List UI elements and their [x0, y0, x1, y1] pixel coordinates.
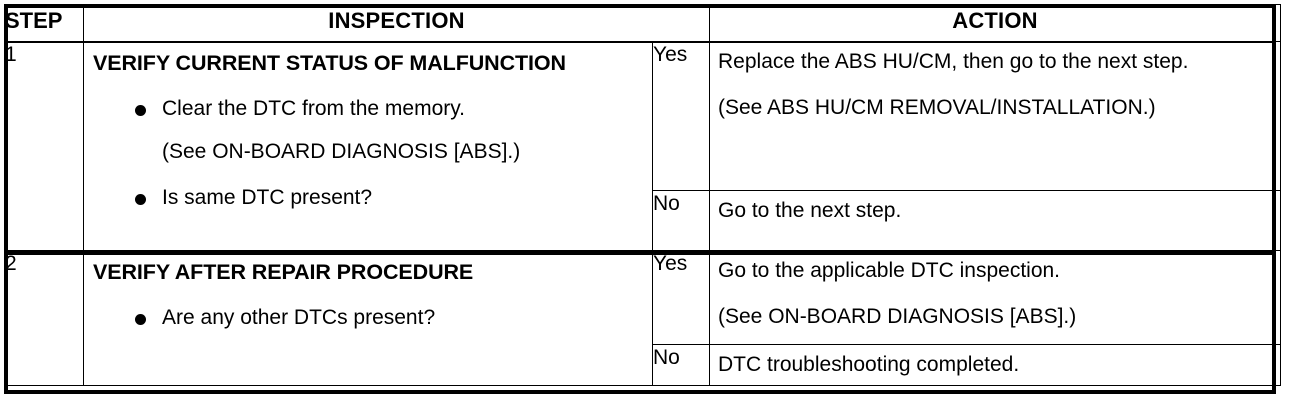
answer-cell-no-1: No — [653, 191, 710, 251]
table-row: 2 VERIFY AFTER REPAIR PROCEDURE Are any … — [5, 251, 1281, 345]
header-cell-inspection: INSPECTION — [84, 5, 710, 42]
action-line: Replace the ABS HU/CM, then go to the ne… — [710, 42, 1280, 75]
step-number-1: 1 — [5, 42, 84, 251]
list-item: Clear the DTC from the memory. — [84, 96, 652, 122]
answer-cell-yes-1: Yes — [653, 42, 710, 191]
diagnostic-table: STEP INSPECTION ACTION 1 VERIFY CURRENT … — [4, 4, 1281, 386]
header-cell-action: ACTION — [710, 5, 1281, 42]
inspection-cell-2: VERIFY AFTER REPAIR PROCEDURE Are any ot… — [84, 251, 653, 386]
inspection-item-list-2: Are any other DTCs present? — [84, 305, 652, 331]
table-header-row: STEP INSPECTION ACTION — [5, 5, 1281, 42]
header-cell-step: STEP — [5, 5, 84, 42]
inspection-title-2: VERIFY AFTER REPAIR PROCEDURE — [84, 251, 652, 285]
inspection-item-list-1: Clear the DTC from the memory. (See ON-B… — [84, 96, 652, 211]
action-cell-yes-1: Replace the ABS HU/CM, then go to the ne… — [710, 42, 1281, 191]
action-line: Go to the applicable DTC inspection. — [710, 251, 1280, 284]
answer-cell-yes-2: Yes — [653, 251, 710, 345]
action-line: Go to the next step. — [710, 191, 1280, 224]
list-item: Is same DTC present? — [84, 185, 652, 211]
diagnostic-flow-sheet: STEP INSPECTION ACTION 1 VERIFY CURRENT … — [0, 0, 1312, 402]
action-cell-no-1: Go to the next step. — [710, 191, 1281, 251]
action-line: DTC troubleshooting completed. — [710, 345, 1280, 378]
action-line: (See ON-BOARD DIAGNOSIS [ABS].) — [710, 284, 1280, 330]
inspection-title-1: VERIFY CURRENT STATUS OF MALFUNCTION — [84, 42, 652, 76]
action-line: (See ABS HU/CM REMOVAL/INSTALLATION.) — [710, 75, 1280, 121]
inspection-cell-1: VERIFY CURRENT STATUS OF MALFUNCTION Cle… — [84, 42, 653, 251]
answer-cell-no-2: No — [653, 345, 710, 386]
action-cell-no-2: DTC troubleshooting completed. — [710, 345, 1281, 386]
list-item: (See ON-BOARD DIAGNOSIS [ABS].) — [84, 139, 652, 165]
table-row: 1 VERIFY CURRENT STATUS OF MALFUNCTION C… — [5, 42, 1281, 191]
step-number-2: 2 — [5, 251, 84, 386]
action-cell-yes-2: Go to the applicable DTC inspection. (Se… — [710, 251, 1281, 345]
list-item: Are any other DTCs present? — [84, 305, 652, 331]
